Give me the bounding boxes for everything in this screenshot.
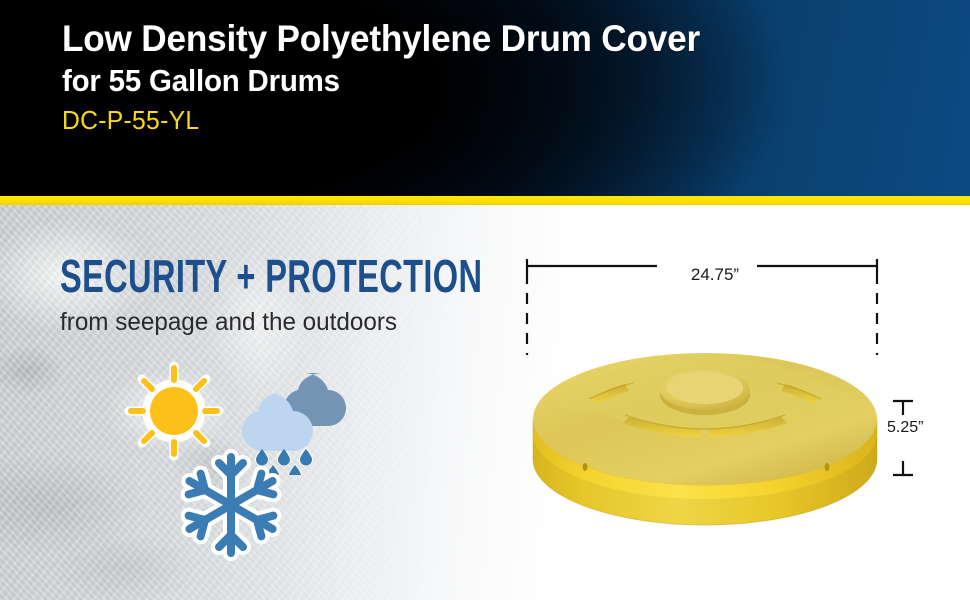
vent-hole [583,463,588,471]
height-dimension [893,401,913,475]
vent-hole [825,463,830,471]
weather-icon-group [120,357,370,557]
page-title: Low Density Polyethylene Drum Cover [62,20,906,58]
product-figure: 24.75” 5.25” [505,223,925,553]
height-dimension-label: 5.25” [887,419,923,437]
sku-code: DC-P-55-YL [62,105,906,136]
header-text-block: Low Density Polyethylene Drum Cover for … [62,20,950,136]
headline: SECURITY + PROTECTION [60,254,482,301]
banner-header: Low Density Polyethylene Drum Cover for … [0,0,970,196]
banner-body: SECURITY + PROTECTION from seepage and t… [0,205,970,600]
width-dimension-label: 24.75” [655,265,775,285]
product-banner: Low Density Polyethylene Drum Cover for … [0,0,970,600]
drum-cover-body [533,353,877,525]
page-subtitle: for 55 Gallon Drums [62,65,906,97]
snowflake-icon [175,449,287,566]
yellow-divider-bar [0,196,970,205]
